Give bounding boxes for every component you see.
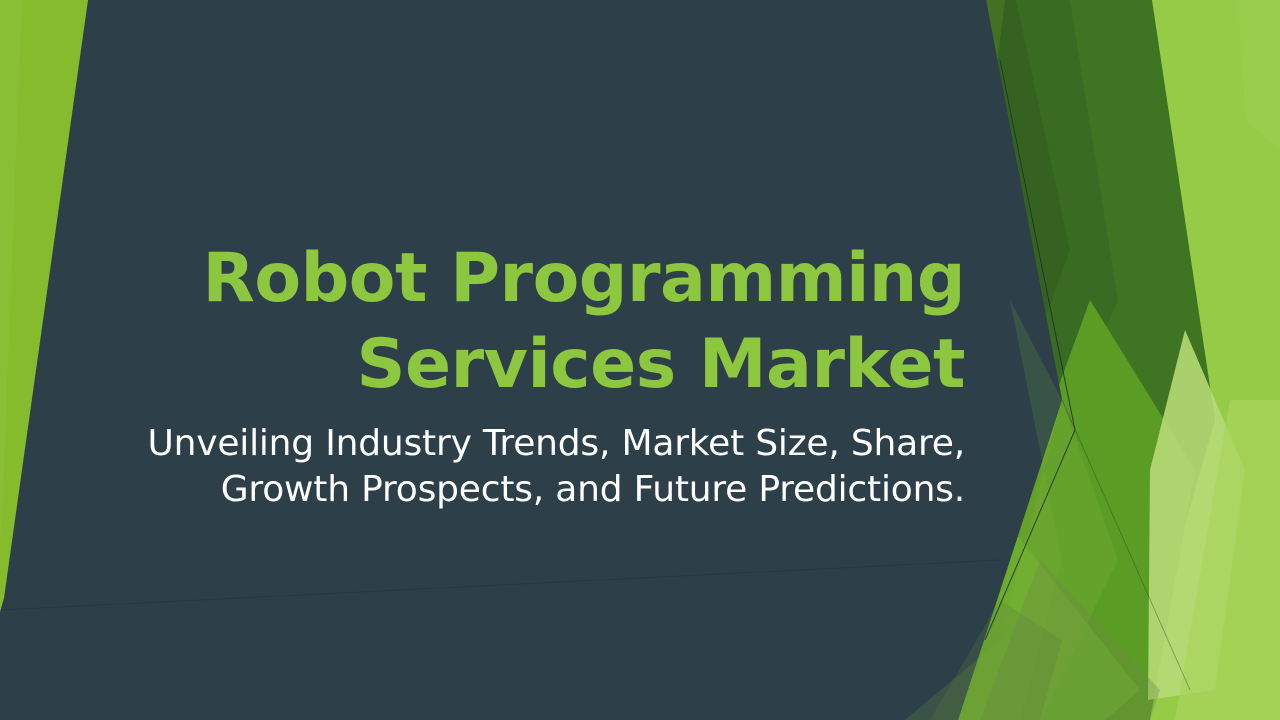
slide-content: Robot Programming Services Market Unveil…: [0, 0, 1280, 720]
page-title: Robot Programming Services Market: [120, 236, 965, 407]
slide-subtitle: Unveiling Industry Trends, Market Size, …: [120, 421, 965, 512]
title-slide: Robot Programming Services Market Unveil…: [0, 0, 1280, 720]
title-text-block: Robot Programming Services Market Unveil…: [120, 236, 965, 513]
